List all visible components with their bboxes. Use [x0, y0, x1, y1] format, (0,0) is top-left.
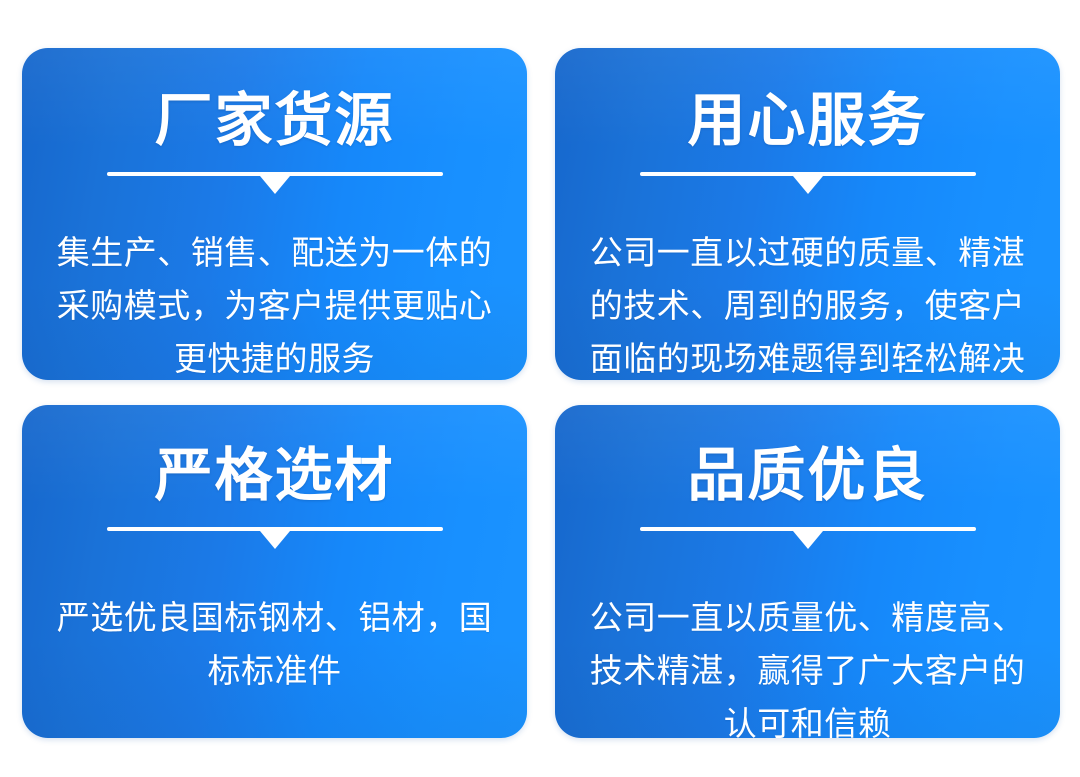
- feature-card-strict-material-selection[interactable]: 严格选材 严选优良国标钢材、铝材，国标标准件: [22, 405, 527, 738]
- title-divider: [640, 172, 976, 194]
- card-content: 严格选材 严选优良国标钢材、铝材，国标标准件: [22, 405, 527, 697]
- title-divider: [107, 527, 443, 549]
- down-triangle-icon: [260, 531, 290, 549]
- card-content: 品质优良 公司一直以质量优、精度高、技术精湛，赢得了广大客户的认可和信赖: [555, 405, 1060, 738]
- down-triangle-icon: [260, 176, 290, 194]
- title-divider: [640, 527, 976, 549]
- feature-card-factory-supply[interactable]: 厂家货源 集生产、销售、配送为一体的采购模式，为客户提供更贴心更快捷的服务: [22, 48, 527, 380]
- down-triangle-icon: [793, 176, 823, 194]
- feature-card-grid: 厂家货源 集生产、销售、配送为一体的采购模式，为客户提供更贴心更快捷的服务 用心…: [22, 48, 1060, 738]
- title-divider: [107, 172, 443, 194]
- card-content: 厂家货源 集生产、销售、配送为一体的采购模式，为客户提供更贴心更快捷的服务: [22, 48, 527, 380]
- feature-card-attentive-service[interactable]: 用心服务 公司一直以过硬的质量、精湛的技术、周到的服务，使客户面临的现场难题得到…: [555, 48, 1060, 380]
- card-description: 集生产、销售、配送为一体的采购模式，为客户提供更贴心更快捷的服务: [42, 226, 508, 380]
- card-description: 公司一直以过硬的质量、精湛的技术、周到的服务，使客户面临的现场难题得到轻松解决: [575, 226, 1041, 380]
- card-description: 严选优良国标钢材、铝材，国标标准件: [42, 591, 508, 697]
- card-title: 厂家货源: [154, 92, 394, 150]
- card-title: 用心服务: [687, 92, 927, 150]
- card-title: 品质优良: [687, 447, 927, 505]
- card-description: 公司一直以质量优、精度高、技术精湛，赢得了广大客户的认可和信赖: [575, 591, 1041, 738]
- card-content: 用心服务 公司一直以过硬的质量、精湛的技术、周到的服务，使客户面临的现场难题得到…: [555, 48, 1060, 380]
- feature-card-excellent-quality[interactable]: 品质优良 公司一直以质量优、精度高、技术精湛，赢得了广大客户的认可和信赖: [555, 405, 1060, 738]
- card-title: 严格选材: [154, 447, 394, 505]
- down-triangle-icon: [793, 531, 823, 549]
